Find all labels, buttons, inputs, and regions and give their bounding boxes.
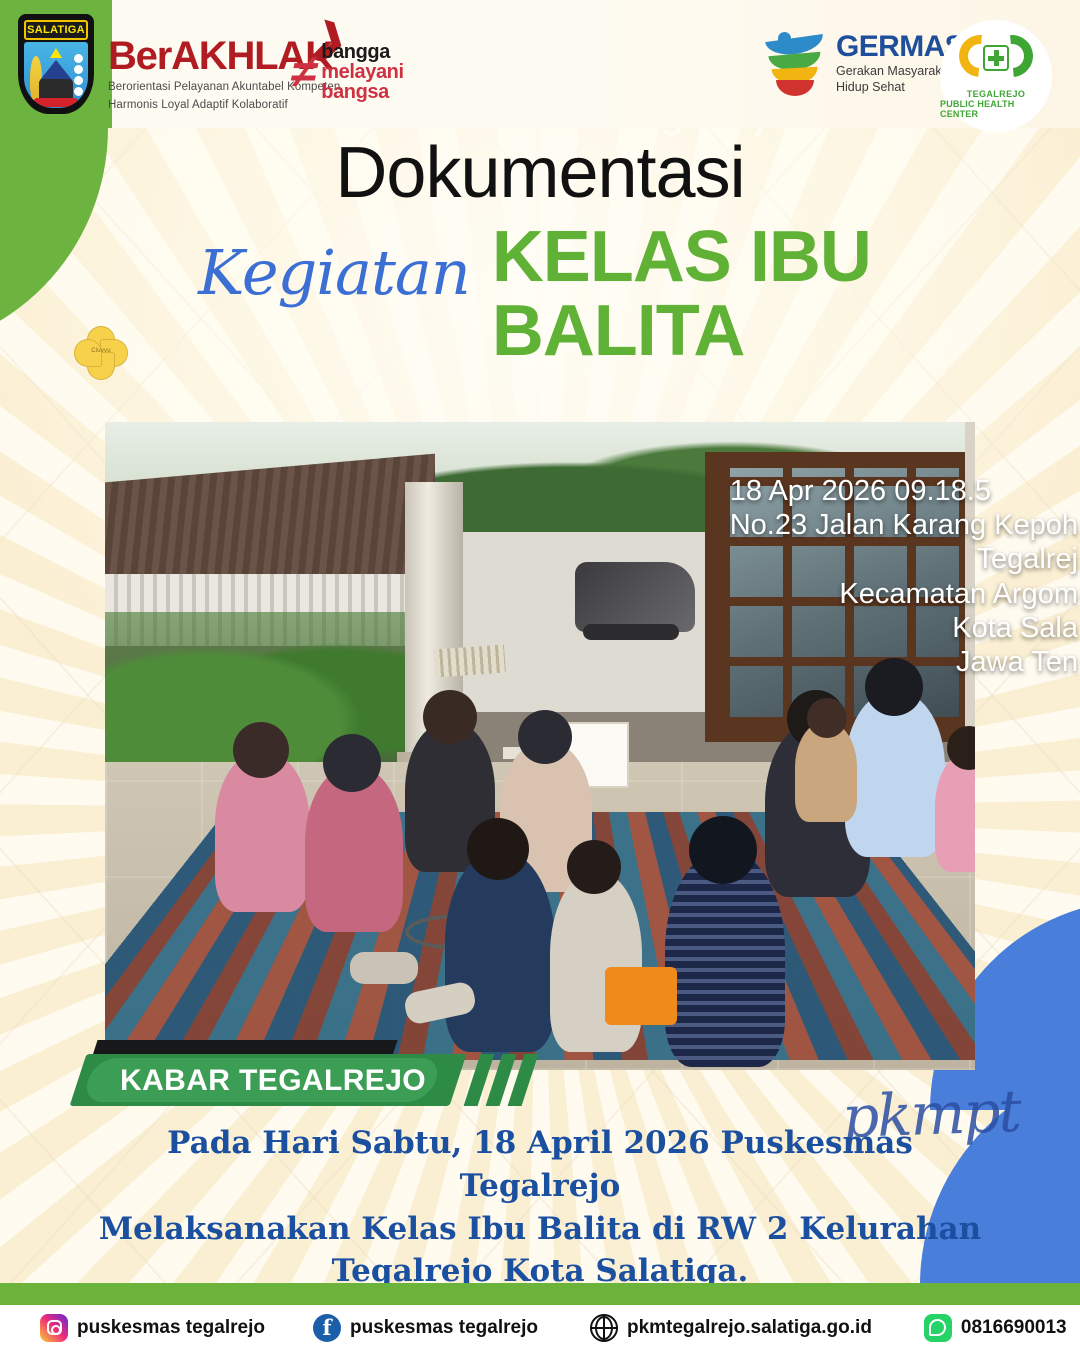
caption-line-2: Melaksanakan Kelas Ibu Balita di RW 2 Ke… [90, 1208, 990, 1251]
stamp-line-1: 18 Apr 2026 09.18.5 [672, 474, 1078, 508]
germas-figure-icon [766, 28, 828, 100]
stamp-line-6: Jawa Ten [672, 645, 1078, 679]
globe-icon[interactable] [590, 1314, 618, 1342]
bangga-line-3: bangsa [321, 82, 403, 102]
instagram-icon[interactable] [40, 1314, 68, 1342]
salatiga-crest-icon: SALATIGA [20, 16, 92, 112]
stamp-line-2: No.23 Jalan Karang Kepoh [672, 508, 1078, 542]
footer-whatsapp[interactable]: 0816690013 [924, 1314, 1067, 1342]
title-kegiatan: Kegiatan [198, 242, 470, 304]
caption-block: Pada Hari Sabtu, 18 April 2026 Puskesmas… [90, 1122, 990, 1293]
germas-logo: GERMAS Gerakan Masyarakat Hidup Sehat [766, 28, 964, 100]
title-dokumentasi: Dokumentasi [0, 136, 1080, 212]
medical-cross-icon [983, 45, 1009, 71]
caption-line-1: Pada Hari Sabtu, 18 April 2026 Puskesmas… [90, 1122, 990, 1208]
whatsapp-icon[interactable] [924, 1314, 952, 1342]
bangga-line-1: bangga [321, 42, 403, 62]
footer-whatsapp-label: 0816690013 [961, 1317, 1067, 1339]
tegalrejo-phc-logo: TEGALREJO PUBLIC HEALTH CENTER [940, 20, 1052, 132]
bangga-melayani-bangsa-logo: ≠ bangga melayani bangsa [292, 42, 404, 102]
kabar-banner-label: KABAR TEGALREJO [120, 1064, 426, 1098]
footer-website-label: pkmtegalrejo.salatiga.go.id [627, 1317, 872, 1339]
footer-green-bar [0, 1283, 1080, 1305]
title-block: Dokumentasi Kegiatan KELAS IBU BALITA [0, 136, 1080, 368]
crest-label: SALATIGA [27, 24, 85, 36]
footer-facebook-label: puskesmas tegalrejo [350, 1317, 538, 1339]
footer-instagram[interactable]: puskesmas tegalrejo [40, 1314, 265, 1342]
heart-hands-icon [961, 33, 1031, 87]
poster-canvas: pkmpt Cluvvu Cluvvu Puskesmas Tegalrejo … [0, 0, 1080, 1350]
facebook-icon[interactable]: f [313, 1314, 341, 1342]
salatiga-crest-block: SALATIGA [0, 0, 112, 128]
photo-timestamp-overlay: 18 Apr 2026 09.18.5 No.23 Jalan Karang K… [672, 474, 1078, 679]
footer-instagram-label: puskesmas tegalrejo [77, 1317, 265, 1339]
stamp-line-4: Kecamatan Argom [672, 577, 1078, 611]
stamp-line-3: Tegalrej [672, 542, 1078, 576]
phc-line-2: PUBLIC HEALTH CENTER [940, 99, 1052, 119]
stamp-line-5: Kota Sala [672, 611, 1078, 645]
footer-facebook[interactable]: f puskesmas tegalrejo [313, 1314, 538, 1342]
title-main: KELAS IBU BALITA [492, 220, 922, 368]
footer-contact-bar: puskesmas tegalrejo f puskesmas tegalrej… [0, 1305, 1080, 1350]
phc-line-1: TEGALREJO [967, 89, 1026, 99]
hash-icon: ≠ [288, 51, 322, 92]
bangga-line-2: melayani [321, 62, 403, 82]
footer-website[interactable]: pkmtegalrejo.salatiga.go.id [590, 1314, 872, 1342]
